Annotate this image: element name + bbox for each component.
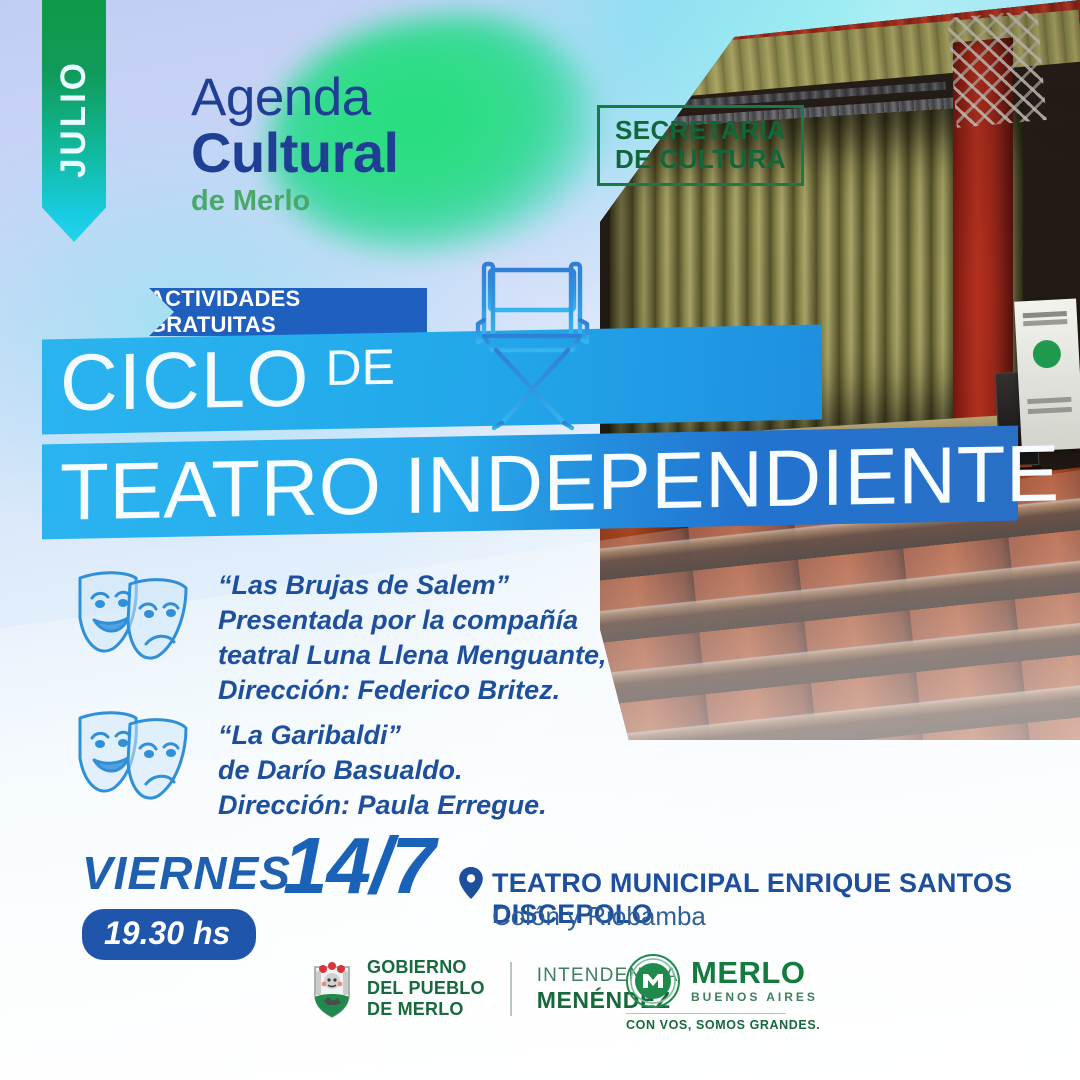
merlo-wordmark: MERLO BUENOS AIRES	[691, 957, 818, 1006]
play-entry-1: “Las Brujas de Salem” Presentada por la …	[72, 562, 607, 708]
month-ribbon-label: JULIO	[54, 60, 94, 178]
month-ribbon: JULIO	[42, 0, 106, 242]
merlo-name: MERLO	[691, 957, 818, 988]
venue-address: Colón y Riobamba	[492, 901, 706, 932]
merlo-region: BUENOS AIRES	[691, 988, 818, 1006]
map-pin-icon	[458, 866, 484, 900]
theatre-masks-icon	[72, 702, 194, 806]
merlo-coat-of-arms-icon	[309, 959, 355, 1019]
schedule-date: 14/7	[283, 820, 435, 912]
secretaria-de-cultura-box: SECRETARIA DE CULTURA	[597, 105, 804, 186]
title-teatro-independiente: TEATRO INDEPENDIENTE	[60, 433, 1060, 532]
footer: GOBIERNO DEL PUEBLO DE MERLO INTENDENCIA…	[0, 952, 1080, 1042]
brand-line-de-merlo: de Merlo	[191, 184, 399, 219]
secretaria-line-2: DE CULTURA	[615, 145, 786, 174]
title-teatro-text: TEATRO INDEPENDIENTE	[60, 425, 1060, 539]
title-ciclo-text: CICLO DE	[60, 329, 395, 430]
schedule-weekday: VIERNES	[82, 846, 291, 900]
merlo-m-logo-icon	[626, 954, 680, 1008]
director-chair-icon	[468, 258, 598, 433]
gobierno-lockup: GOBIERNO DEL PUEBLO DE MERLO INTENDENCIA…	[309, 957, 679, 1021]
brand-line-cultural: Cultural	[191, 124, 399, 181]
theatre-masks-icon	[72, 562, 194, 666]
merlo-brand-row: MERLO BUENOS AIRES	[626, 954, 820, 1008]
title-word-ciclo: CICLO	[60, 338, 310, 423]
poster: JULIO Agenda Cultural de Merlo SECRETARI…	[0, 0, 1080, 1080]
play-entry-2: “La Garibaldi” de Darío Basualdo. Direcc…	[72, 702, 547, 823]
merlo-brand-lockup: MERLO BUENOS AIRES CON VOS, SOMOS GRANDE…	[626, 954, 820, 1032]
secretaria-line-1: SECRETARIA	[615, 116, 786, 145]
play-2-description: “La Garibaldi” de Darío Basualdo. Direcc…	[218, 702, 547, 823]
gobierno-text: GOBIERNO DEL PUEBLO DE MERLO	[367, 957, 485, 1021]
play-1-description: “Las Brujas de Salem” Presentada por la …	[218, 562, 607, 708]
merlo-slogan: CON VOS, SOMOS GRANDES.	[626, 1018, 820, 1032]
brand-line-agenda: Agenda	[191, 72, 399, 124]
footer-divider	[510, 962, 512, 1016]
merlo-rule	[626, 1013, 786, 1014]
brand-lockup: Agenda Cultural de Merlo	[191, 72, 399, 219]
title-word-de: DE	[326, 341, 395, 392]
